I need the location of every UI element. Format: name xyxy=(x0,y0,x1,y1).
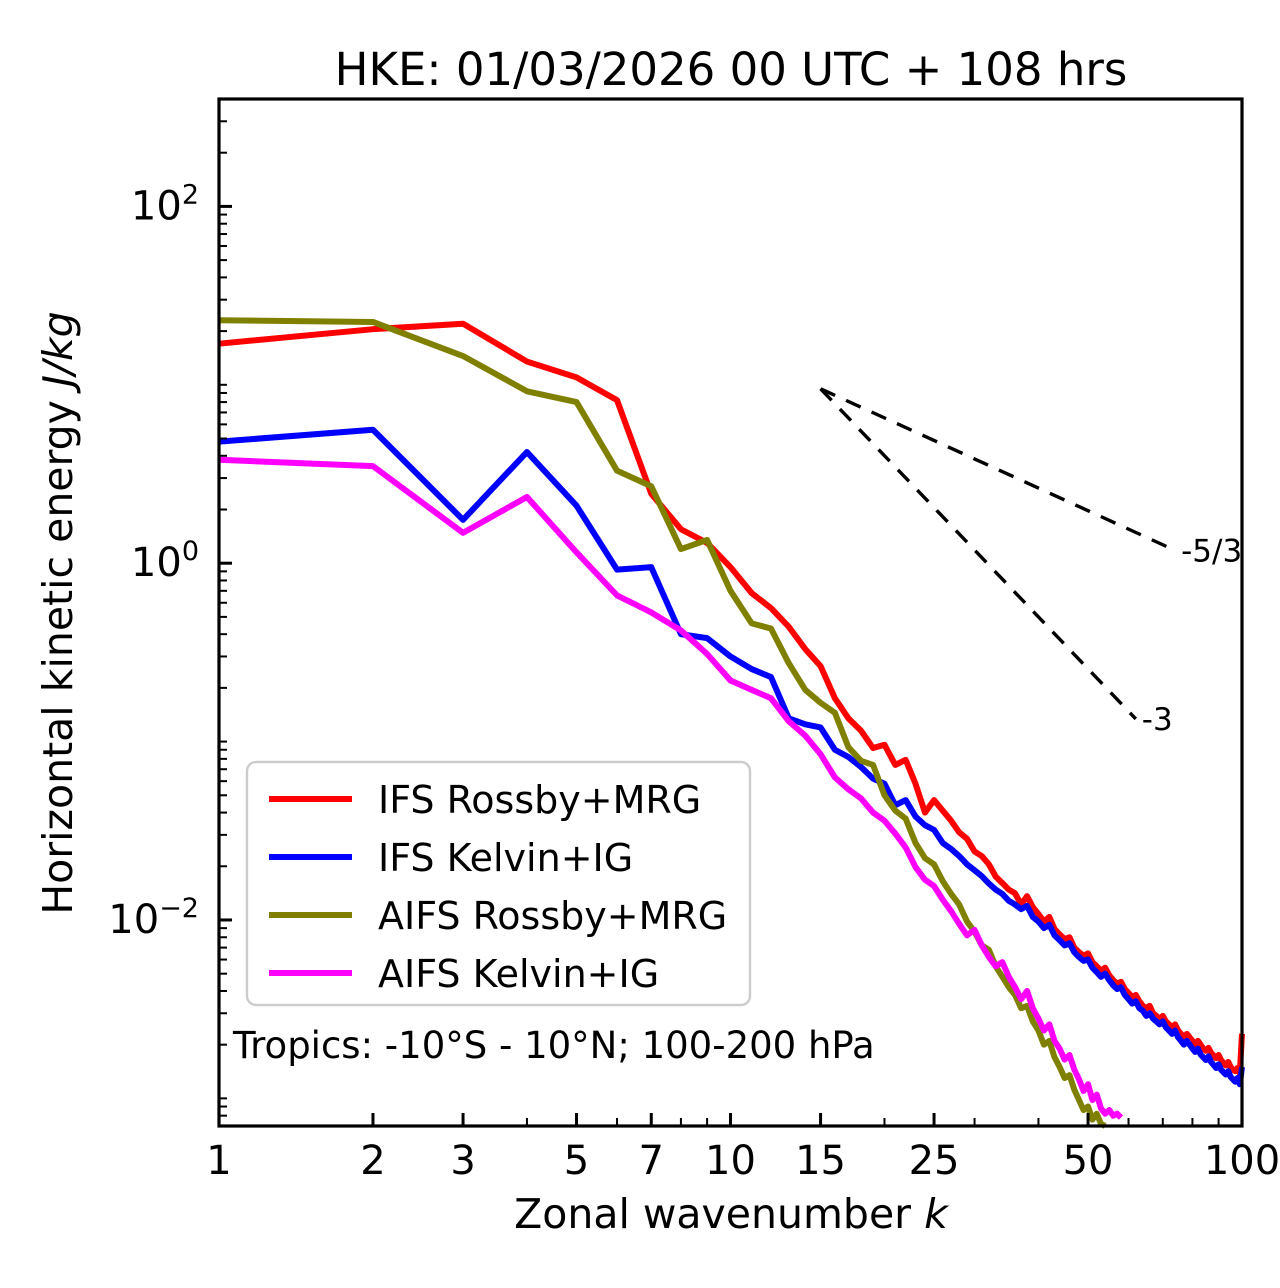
x-tick-label-15: 15 xyxy=(795,1138,846,1184)
x-tick-label-3: 3 xyxy=(450,1138,475,1184)
hke-spectrum-chart: HKE: 01/03/2026 00 UTC + 108 hrs -5/3-3 … xyxy=(0,0,1280,1288)
x-axis-title: Zonal wavenumber k xyxy=(514,1190,950,1238)
x-tick-label-2: 2 xyxy=(360,1138,385,1184)
x-tick-label-10: 10 xyxy=(705,1138,756,1184)
y-axis-ticks: 10210010−2 xyxy=(108,99,232,1126)
x-tick-label-25: 25 xyxy=(909,1138,960,1184)
x-axis-ticks: 1235710152550100 xyxy=(206,1113,1280,1184)
figure-root: HKE: 01/03/2026 00 UTC + 108 hrs -5/3-3 … xyxy=(0,0,1280,1288)
legend[interactable]: IFS Rossby+MRGIFS Kelvin+IGAIFS Rossby+M… xyxy=(247,762,750,1005)
region-annotation: Tropics: -10°S - 10°N; 100-200 hPa xyxy=(232,1024,875,1067)
y-tick-label-2: 10−2 xyxy=(108,893,199,943)
x-tick-label-1: 1 xyxy=(206,1138,231,1184)
slope-label-53: -5/3 xyxy=(1181,533,1242,569)
slope-label-3: -3 xyxy=(1142,702,1173,738)
x-tick-label-5: 5 xyxy=(564,1138,589,1184)
y-tick-label-0: 102 xyxy=(131,179,199,229)
reference-slope-lines: -5/3-3 xyxy=(821,389,1243,738)
legend-label: IFS Rossby+MRG xyxy=(378,778,701,822)
x-tick-label-100: 100 xyxy=(1204,1138,1280,1184)
legend-label: IFS Kelvin+IG xyxy=(378,836,633,880)
x-tick-label-7: 7 xyxy=(639,1138,664,1184)
slope-reference-line-53 xyxy=(821,389,1176,551)
y-tick-label-1: 100 xyxy=(131,536,199,586)
slope-reference-line-3 xyxy=(821,389,1136,719)
legend-label: AIFS Rossby+MRG xyxy=(378,894,727,938)
y-axis-title: Horizontal kinetic energy J/kg xyxy=(34,311,82,914)
page-title: HKE: 01/03/2026 00 UTC + 108 hrs xyxy=(335,43,1128,96)
x-tick-label-50: 50 xyxy=(1063,1138,1114,1184)
legend-label: AIFS Kelvin+IG xyxy=(378,952,659,996)
